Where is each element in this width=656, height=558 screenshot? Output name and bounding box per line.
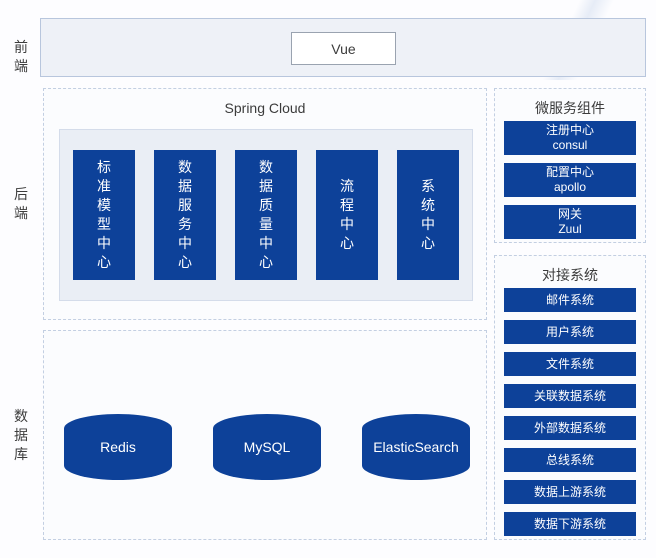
datastore-mysql-label: MySQL <box>244 439 291 455</box>
integration-system-bus[interactable]: 总线系统 <box>504 448 636 472</box>
microservice-components-list: 注册中心 consul 配置中心 apollo 网关 Zuul <box>504 121 636 247</box>
database-panel: Redis MySQL ElasticSearch <box>43 330 487 540</box>
char: 心 <box>421 234 435 253</box>
integration-system-external-data[interactable]: 外部数据系统 <box>504 416 636 440</box>
service-center-data-quality[interactable]: 数 据 质 量 中 心 <box>235 150 297 280</box>
char: 数 <box>259 158 273 177</box>
tier-label-backend-char-1: 端 <box>8 204 34 223</box>
char: 中 <box>340 215 354 234</box>
char: 据 <box>259 177 273 196</box>
integration-system-file[interactable]: 文件系统 <box>504 352 636 376</box>
char: 心 <box>178 253 192 272</box>
microservice-config-center-name: 配置中心 <box>546 165 594 180</box>
char: 程 <box>340 196 354 215</box>
vue-node-label: Vue <box>331 41 355 57</box>
microservice-config-center-tech: apollo <box>554 180 586 195</box>
spring-cloud-title: Spring Cloud <box>44 100 486 116</box>
integration-system-data-upstream-label: 数据上游系统 <box>534 485 606 500</box>
integration-system-related-data[interactable]: 关联数据系统 <box>504 384 636 408</box>
spring-cloud-container: 标 准 模 型 中 心 数 据 服 务 中 心 数 据 <box>59 129 473 301</box>
char: 数 <box>178 158 192 177</box>
integration-system-user-label: 用户系统 <box>546 325 594 340</box>
datastore-redis[interactable]: Redis <box>64 414 172 480</box>
integration-system-file-label: 文件系统 <box>546 357 594 372</box>
char: 心 <box>259 253 273 272</box>
service-center-list: 标 准 模 型 中 心 数 据 服 务 中 心 数 据 <box>73 150 459 280</box>
microservice-gateway[interactable]: 网关 Zuul <box>504 205 636 239</box>
datastore-elasticsearch[interactable]: ElasticSearch <box>362 414 470 480</box>
char: 中 <box>259 234 273 253</box>
char: 模 <box>97 196 111 215</box>
char: 标 <box>97 158 111 177</box>
backend-panel: Spring Cloud 标 准 模 型 中 心 数 据 服 务 中 心 <box>43 88 487 320</box>
tier-label-database: 数 据 库 <box>8 407 34 464</box>
integration-system-mail[interactable]: 邮件系统 <box>504 288 636 312</box>
char: 务 <box>178 215 192 234</box>
char: 量 <box>259 215 273 234</box>
tier-label-frontend: 前 端 <box>8 38 34 76</box>
tier-label-frontend-char-1: 端 <box>8 57 34 76</box>
char: 中 <box>421 215 435 234</box>
char: 流 <box>340 177 354 196</box>
char: 准 <box>97 177 111 196</box>
service-center-data-service[interactable]: 数 据 服 务 中 心 <box>154 150 216 280</box>
char: 服 <box>178 196 192 215</box>
char: 中 <box>97 234 111 253</box>
service-center-standard-model[interactable]: 标 准 模 型 中 心 <box>73 150 135 280</box>
integration-system-bus-label: 总线系统 <box>546 453 594 468</box>
datastore-elasticsearch-label: ElasticSearch <box>373 439 459 455</box>
tier-label-backend: 后 端 <box>8 185 34 223</box>
microservice-registry-center-tech: consul <box>553 138 588 153</box>
char: 据 <box>178 177 192 196</box>
microservice-components-title: 微服务组件 <box>495 98 645 118</box>
char: 型 <box>97 215 111 234</box>
microservice-gateway-tech: Zuul <box>558 222 581 237</box>
integration-system-data-downstream-label: 数据下游系统 <box>534 517 606 532</box>
microservice-registry-center-name: 注册中心 <box>546 123 594 138</box>
char: 心 <box>97 253 111 272</box>
microservice-components-panel: 微服务组件 注册中心 consul 配置中心 apollo 网关 Zuul <box>494 88 646 243</box>
vue-node[interactable]: Vue <box>291 32 396 65</box>
integration-system-data-downstream[interactable]: 数据下游系统 <box>504 512 636 536</box>
char: 心 <box>340 234 354 253</box>
microservice-config-center[interactable]: 配置中心 apollo <box>504 163 636 197</box>
tier-label-database-char-2: 库 <box>8 445 34 464</box>
service-center-system[interactable]: 系 统 中 心 <box>397 150 459 280</box>
tier-label-database-char-1: 据 <box>8 426 34 445</box>
service-center-process[interactable]: 流 程 中 心 <box>316 150 378 280</box>
integration-system-external-data-label: 外部数据系统 <box>534 421 606 436</box>
char: 质 <box>259 196 273 215</box>
integration-system-data-upstream[interactable]: 数据上游系统 <box>504 480 636 504</box>
integration-systems-list: 邮件系统 用户系统 文件系统 关联数据系统 外部数据系统 总线系统 数据上游系统… <box>504 288 636 544</box>
datastore-redis-label: Redis <box>100 439 136 455</box>
integration-system-user[interactable]: 用户系统 <box>504 320 636 344</box>
datastore-mysql[interactable]: MySQL <box>213 414 321 480</box>
datastore-list: Redis MySQL ElasticSearch <box>44 414 486 480</box>
integration-systems-panel: 对接系统 邮件系统 用户系统 文件系统 关联数据系统 外部数据系统 总线系统 数… <box>494 255 646 540</box>
architecture-diagram: 前 端 后 端 数 据 库 Vue Spring Cloud 标 准 模 型 中 <box>0 0 656 558</box>
tier-label-frontend-char-0: 前 <box>8 38 34 57</box>
integration-systems-title: 对接系统 <box>495 265 645 285</box>
microservice-gateway-name: 网关 <box>558 207 582 222</box>
integration-system-mail-label: 邮件系统 <box>546 293 594 308</box>
char: 统 <box>421 196 435 215</box>
char: 系 <box>421 177 435 196</box>
char: 中 <box>178 234 192 253</box>
tier-label-database-char-0: 数 <box>8 407 34 426</box>
microservice-registry-center[interactable]: 注册中心 consul <box>504 121 636 155</box>
tier-label-backend-char-0: 后 <box>8 185 34 204</box>
frontend-band: Vue <box>40 18 646 77</box>
integration-system-related-data-label: 关联数据系统 <box>534 389 606 404</box>
